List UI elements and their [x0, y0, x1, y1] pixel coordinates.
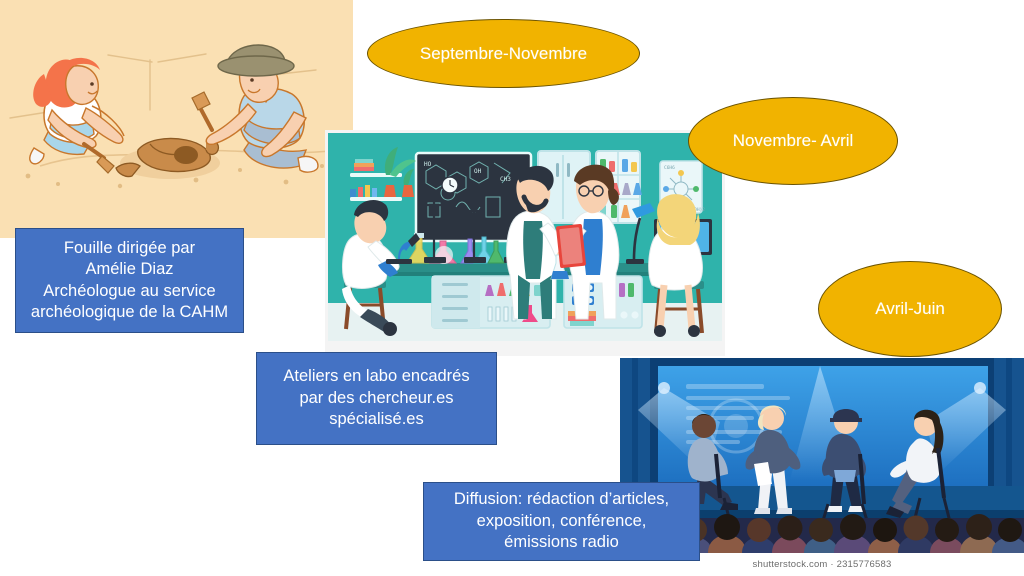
- svg-text:HO: HO: [424, 161, 432, 168]
- callout-label: Septembre-Novembre: [420, 44, 587, 64]
- caption-line: Archéologue au service: [31, 281, 228, 302]
- caption-ateliers[interactable]: Ateliers en labo encadrés par des cherch…: [256, 352, 497, 445]
- caption-line: Ateliers en labo encadrés: [283, 366, 469, 387]
- caption-line: spécialisé.es: [283, 409, 469, 430]
- caption-line: Diffusion: rédaction d’articles,: [454, 489, 669, 510]
- caption-line: par des chercheur.es: [283, 388, 469, 409]
- caption-line: exposition, conférence,: [454, 511, 669, 532]
- svg-text:CH3: CH3: [500, 176, 511, 183]
- slide-canvas: HO OH CH3: [0, 0, 1024, 576]
- caption-line: Fouille dirigée par: [31, 238, 228, 259]
- callout-label: Avril-Juin: [875, 299, 945, 319]
- callout-label: Novembre- Avril: [733, 131, 854, 151]
- callout-septembre-novembre[interactable]: Septembre-Novembre: [367, 19, 640, 88]
- archaeology-dig-illustration: [0, 0, 353, 238]
- svg-text:C6H6: C6H6: [664, 165, 675, 171]
- caption-fouille[interactable]: Fouille dirigée par Amélie Diaz Archéolo…: [15, 228, 244, 333]
- caption-line: émissions radio: [454, 532, 669, 553]
- callout-avril-juin[interactable]: Avril-Juin: [818, 261, 1002, 357]
- callout-novembre-avril[interactable]: Novembre- Avril: [688, 97, 898, 185]
- caption-line: archéologique de la CAHM: [31, 302, 228, 323]
- laboratory-illustration: HO OH CH3: [325, 130, 725, 356]
- caption-diffusion[interactable]: Diffusion: rédaction d’articles, exposit…: [423, 482, 700, 561]
- caption-line: Amélie Diaz: [31, 259, 228, 280]
- svg-text:OH: OH: [474, 168, 482, 175]
